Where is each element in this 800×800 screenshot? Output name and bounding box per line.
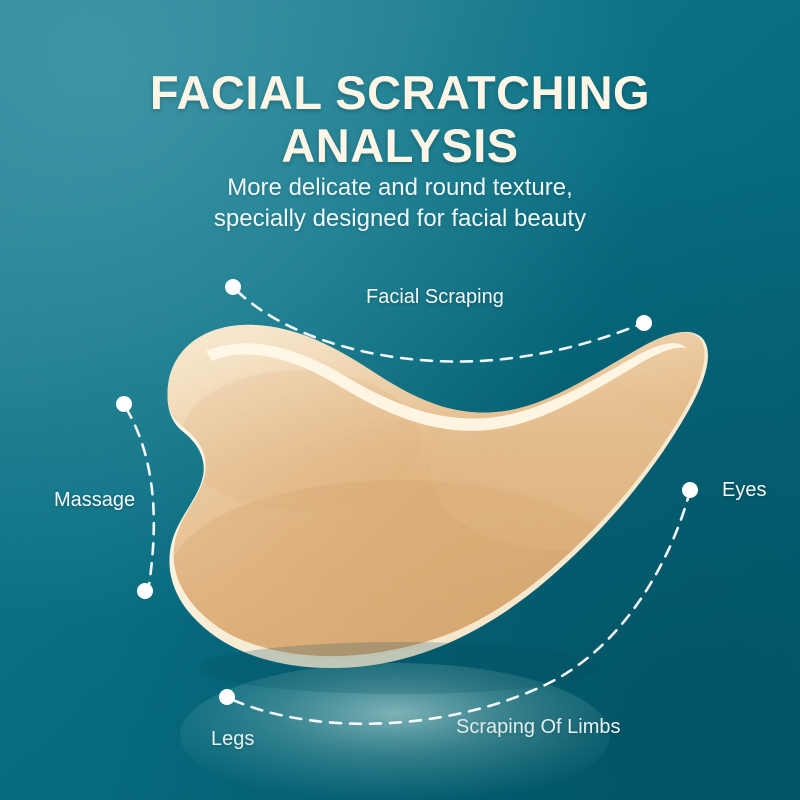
dot-facial-scraping-left xyxy=(225,279,241,295)
dot-massage-top xyxy=(116,396,132,412)
dot-facial-scraping-right xyxy=(636,315,652,331)
product-poster: FACIAL SCRATCHING ANALYSIS More delicate… xyxy=(0,0,800,800)
connector-facial-scraping xyxy=(237,291,641,362)
dot-eyes xyxy=(682,482,698,498)
connector-massage xyxy=(126,408,154,585)
dot-legs xyxy=(219,689,235,705)
callout-connector-lines xyxy=(0,0,800,800)
dot-massage-bottom xyxy=(137,583,153,599)
connector-limbs-to-eyes xyxy=(233,498,688,724)
